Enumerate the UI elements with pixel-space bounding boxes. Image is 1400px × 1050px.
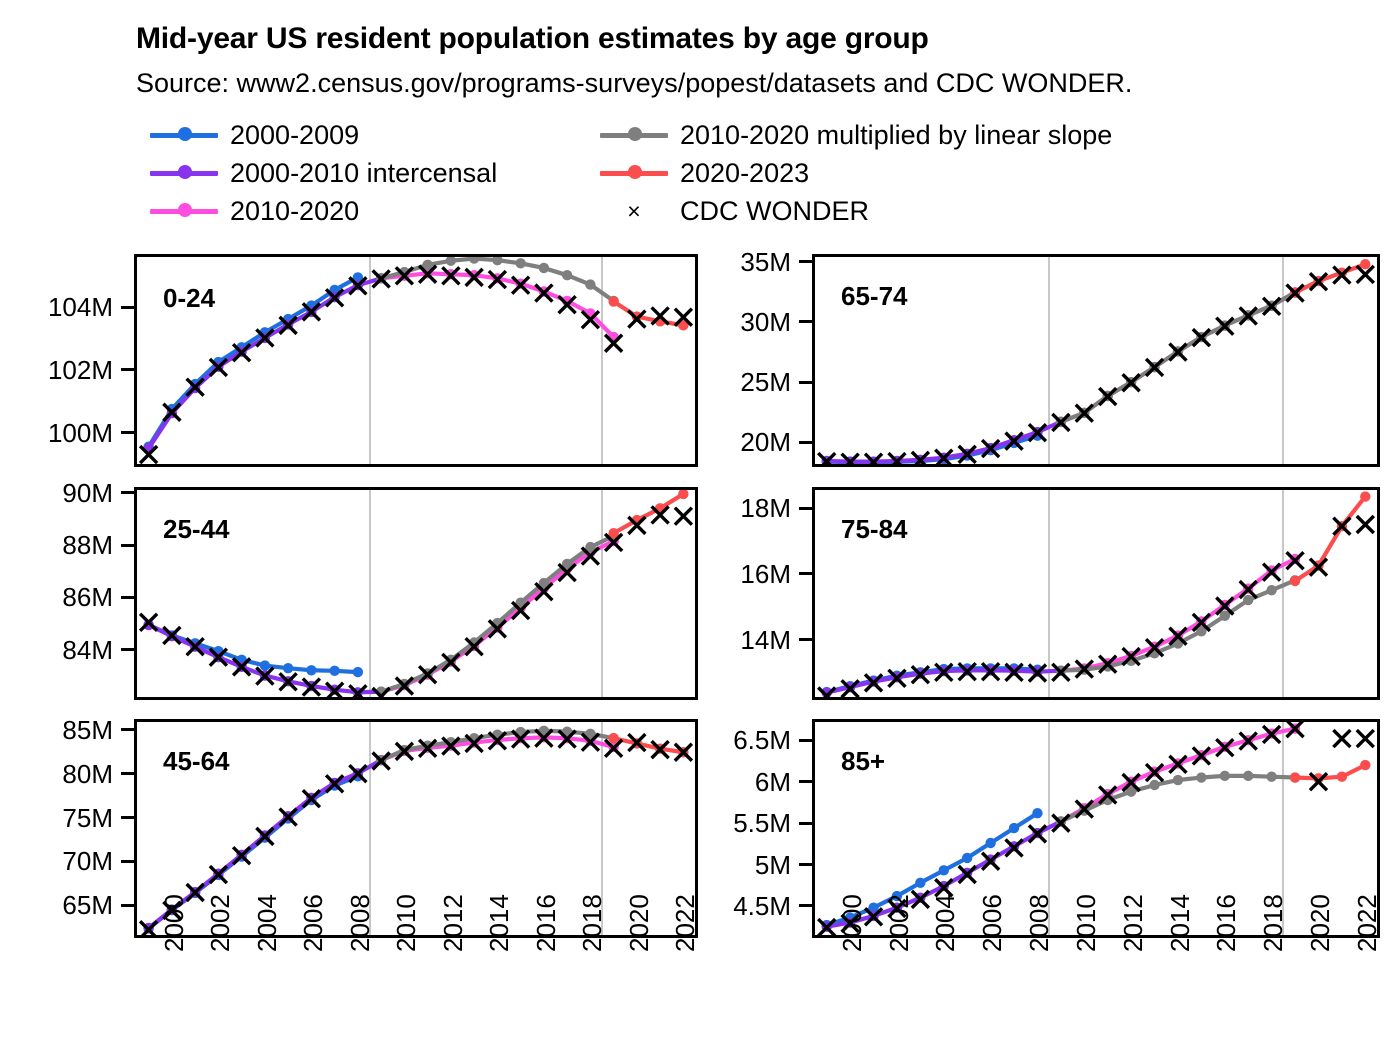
y-tick-label: 20M bbox=[681, 427, 791, 458]
series-point bbox=[1360, 259, 1370, 269]
legend-label: 2010-2020 bbox=[230, 196, 359, 227]
y-tick-mark bbox=[799, 863, 812, 866]
y-tick-mark bbox=[799, 739, 812, 742]
y-tick-label: 88M bbox=[3, 530, 113, 561]
series-point bbox=[962, 853, 972, 863]
y-tick-label: 104M bbox=[3, 292, 113, 323]
legend-label: CDC WONDER bbox=[680, 196, 869, 227]
series-point bbox=[1360, 760, 1370, 770]
cdc-wonder-marker bbox=[1287, 285, 1304, 302]
x-tick-label: 2018 bbox=[577, 894, 608, 952]
series-point bbox=[915, 878, 925, 888]
legend-swatch bbox=[150, 164, 218, 182]
x-tick-label: 2022 bbox=[1352, 894, 1383, 952]
legend-dot-icon bbox=[628, 127, 642, 141]
x-tick-label: 2002 bbox=[205, 894, 236, 952]
series-point bbox=[283, 663, 293, 673]
series-point bbox=[985, 838, 995, 848]
y-tick-label: 4.5M bbox=[681, 891, 791, 922]
y-tick-label: 102M bbox=[3, 355, 113, 386]
x-tick-label: 2018 bbox=[1258, 894, 1289, 952]
legend-item-2000-2009: 2000-2009 bbox=[150, 118, 359, 152]
series-point bbox=[1243, 771, 1253, 781]
y-tick-mark bbox=[121, 772, 134, 775]
y-tick-mark bbox=[799, 507, 812, 510]
legend-label: 2000-2010 intercensal bbox=[230, 158, 497, 189]
x-tick-label: 2008 bbox=[345, 894, 376, 952]
legend-item-2000-2010-intercensal: 2000-2010 intercensal bbox=[150, 156, 497, 190]
panel-title-75-84: 75-84 bbox=[841, 514, 908, 545]
series-point bbox=[1032, 808, 1042, 818]
legend-item-cdc-wonder: ×CDC WONDER bbox=[600, 194, 869, 228]
y-tick-label: 100M bbox=[3, 418, 113, 449]
x-tick-label: 2012 bbox=[1118, 894, 1149, 952]
series-line bbox=[614, 302, 684, 326]
cdc-wonder-marker bbox=[1357, 516, 1374, 533]
y-tick-mark bbox=[121, 596, 134, 599]
y-tick-label: 90M bbox=[3, 478, 113, 509]
y-tick-label: 75M bbox=[3, 803, 113, 834]
legend-item-2010-2020-multiplied-by-linear-slope: 2010-2020 multiplied by linear slope bbox=[600, 118, 1112, 152]
y-tick-label: 5M bbox=[681, 850, 791, 881]
series-2010-2020-multiplied-by-linear-slope bbox=[1056, 771, 1301, 827]
chart-panel-25-44: 25-44 bbox=[134, 487, 698, 700]
y-tick-label: 86M bbox=[3, 582, 113, 613]
series-point bbox=[1243, 595, 1253, 605]
series-line bbox=[1061, 559, 1295, 671]
y-tick-label: 25M bbox=[681, 367, 791, 398]
cdc-wonder-marker bbox=[1169, 344, 1186, 361]
series-point bbox=[1196, 772, 1206, 782]
legend-dot-icon bbox=[178, 127, 192, 141]
x-tick-label: 2016 bbox=[1211, 894, 1242, 952]
x-tick-label: 2010 bbox=[391, 894, 422, 952]
series-point bbox=[539, 263, 549, 273]
legend-swatch bbox=[600, 126, 668, 144]
y-tick-label: 6.5M bbox=[681, 725, 791, 756]
series-line bbox=[381, 541, 614, 692]
series-line bbox=[1061, 580, 1295, 670]
x-tick-label: 2000 bbox=[837, 894, 868, 952]
cdc-wonder-marker bbox=[1193, 329, 1210, 346]
y-tick-mark bbox=[121, 431, 134, 434]
legend-swatch bbox=[150, 126, 218, 144]
y-tick-mark bbox=[799, 780, 812, 783]
x-tick-label: 2010 bbox=[1071, 894, 1102, 952]
x-tick-label: 2004 bbox=[252, 894, 283, 952]
series-2020-2023 bbox=[1290, 760, 1371, 784]
legend-item-2020-2023: 2020-2023 bbox=[600, 156, 809, 190]
y-tick-mark bbox=[799, 381, 812, 384]
series-2020-2023 bbox=[608, 489, 688, 539]
series-point bbox=[1220, 611, 1230, 621]
y-tick-mark bbox=[799, 638, 812, 641]
series-point bbox=[939, 865, 949, 875]
x-tick-label: 2020 bbox=[624, 894, 655, 952]
series-point bbox=[1360, 491, 1370, 501]
legend-dot-icon bbox=[178, 165, 192, 179]
y-tick-mark bbox=[799, 260, 812, 263]
x-tick-label: 2014 bbox=[484, 894, 515, 952]
series-point bbox=[1009, 823, 1019, 833]
series-line bbox=[149, 625, 382, 692]
series-line bbox=[614, 494, 684, 533]
series-point bbox=[515, 258, 525, 268]
panel-title-45-64: 45-64 bbox=[163, 746, 230, 777]
series-line bbox=[1061, 293, 1295, 422]
y-tick-label: 35M bbox=[681, 247, 791, 278]
series-point bbox=[585, 279, 595, 289]
y-tick-mark bbox=[121, 491, 134, 494]
y-tick-mark bbox=[799, 572, 812, 575]
series-line bbox=[1295, 765, 1365, 778]
legend-swatch bbox=[150, 202, 218, 220]
y-tick-mark bbox=[121, 544, 134, 547]
series-line bbox=[149, 625, 358, 672]
panel-title-0-24: 0-24 bbox=[163, 283, 215, 314]
series-point bbox=[329, 666, 339, 676]
cross-marker-icon: × bbox=[600, 202, 668, 220]
series-canvas bbox=[137, 257, 695, 464]
series-line bbox=[614, 738, 684, 752]
legend-label: 2020-2023 bbox=[680, 158, 809, 189]
series-2020-2023 bbox=[1290, 491, 1371, 586]
page-subtitle: Source: www2.census.gov/programs-surveys… bbox=[136, 68, 1132, 99]
y-tick-label: 70M bbox=[3, 846, 113, 877]
cdc-wonder-marker bbox=[1146, 359, 1163, 376]
chart-panel-65-74: 65-74 bbox=[812, 254, 1380, 467]
series-point bbox=[1266, 585, 1276, 595]
y-tick-mark bbox=[799, 904, 812, 907]
series-point bbox=[1290, 576, 1300, 586]
y-tick-mark bbox=[121, 648, 134, 651]
series-point bbox=[260, 660, 270, 670]
y-tick-mark bbox=[121, 816, 134, 819]
panel-title-65-74: 65-74 bbox=[841, 281, 908, 312]
panel-title-85+: 85+ bbox=[841, 746, 885, 777]
series-point bbox=[608, 296, 618, 306]
series-point bbox=[1173, 775, 1183, 785]
cdc-wonder-marker bbox=[1333, 730, 1350, 747]
x-tick-label: 2020 bbox=[1305, 894, 1336, 952]
legend-label: 2010-2020 multiplied by linear slope bbox=[680, 120, 1112, 151]
y-tick-label: 16M bbox=[681, 559, 791, 590]
page-title: Mid-year US resident population estimate… bbox=[136, 22, 929, 56]
y-tick-label: 84M bbox=[3, 635, 113, 666]
y-tick-mark bbox=[799, 822, 812, 825]
chart-panel-0-24: 0-24 bbox=[134, 254, 698, 467]
y-tick-mark bbox=[121, 306, 134, 309]
panel-title-25-44: 25-44 bbox=[163, 514, 230, 545]
y-tick-label: 14M bbox=[681, 625, 791, 656]
series-point bbox=[562, 270, 572, 280]
legend-dot-icon bbox=[628, 165, 642, 179]
legend-dot-icon bbox=[178, 203, 192, 217]
y-tick-label: 18M bbox=[681, 493, 791, 524]
series-point bbox=[608, 733, 618, 743]
y-tick-label: 85M bbox=[3, 715, 113, 746]
chart-root: Mid-year US resident population estimate… bbox=[0, 0, 1400, 1050]
y-tick-label: 6M bbox=[681, 767, 791, 798]
x-tick-label: 2002 bbox=[884, 894, 915, 952]
y-tick-label: 65M bbox=[3, 890, 113, 921]
series-2020-2023 bbox=[1290, 259, 1371, 298]
cdc-wonder-marker bbox=[1333, 518, 1350, 535]
series-point bbox=[1266, 772, 1276, 782]
series-line bbox=[1295, 497, 1365, 581]
x-tick-label: 2014 bbox=[1165, 894, 1196, 952]
x-tick-label: 2006 bbox=[977, 894, 1008, 952]
x-tick-label: 2016 bbox=[531, 894, 562, 952]
y-tick-label: 5.5M bbox=[681, 808, 791, 839]
y-tick-mark bbox=[121, 368, 134, 371]
x-tick-label: 2008 bbox=[1024, 894, 1055, 952]
series-point bbox=[446, 256, 456, 266]
series-point bbox=[306, 665, 316, 675]
x-tick-label: 2012 bbox=[438, 894, 469, 952]
series-2000-2009 bbox=[143, 620, 363, 678]
y-tick-label: 30M bbox=[681, 307, 791, 338]
chart-panel-75-84: 75-84 bbox=[812, 487, 1380, 700]
legend-label: 2000-2009 bbox=[230, 120, 359, 151]
series-point bbox=[492, 255, 502, 265]
chart-legend: 2000-20092000-2010 intercensal2010-20202… bbox=[150, 118, 1300, 228]
legend-swatch bbox=[600, 164, 668, 182]
y-tick-mark bbox=[799, 441, 812, 444]
x-tick-label: 2000 bbox=[159, 894, 190, 952]
y-tick-mark bbox=[121, 904, 134, 907]
series-point bbox=[1149, 780, 1159, 790]
x-tick-label: 2004 bbox=[930, 894, 961, 952]
series-2010-2020 bbox=[1056, 554, 1301, 676]
series-point bbox=[1290, 772, 1300, 782]
x-tick-label: 2006 bbox=[298, 894, 329, 952]
series-line bbox=[1295, 264, 1365, 292]
y-tick-mark bbox=[121, 728, 134, 731]
legend-swatch: × bbox=[600, 202, 668, 220]
series-point bbox=[1337, 772, 1347, 782]
series-point bbox=[353, 667, 363, 677]
series-2010-2020 bbox=[376, 536, 619, 697]
cdc-wonder-marker bbox=[1123, 374, 1140, 391]
y-tick-mark bbox=[799, 320, 812, 323]
series-point bbox=[469, 254, 479, 264]
series-point bbox=[1220, 771, 1230, 781]
cdc-wonder-marker bbox=[1357, 730, 1374, 747]
legend-item-2010-2020: 2010-2020 bbox=[150, 194, 359, 228]
y-tick-label: 80M bbox=[3, 759, 113, 790]
cdc-wonder-marker bbox=[1099, 388, 1116, 405]
y-tick-mark bbox=[121, 860, 134, 863]
